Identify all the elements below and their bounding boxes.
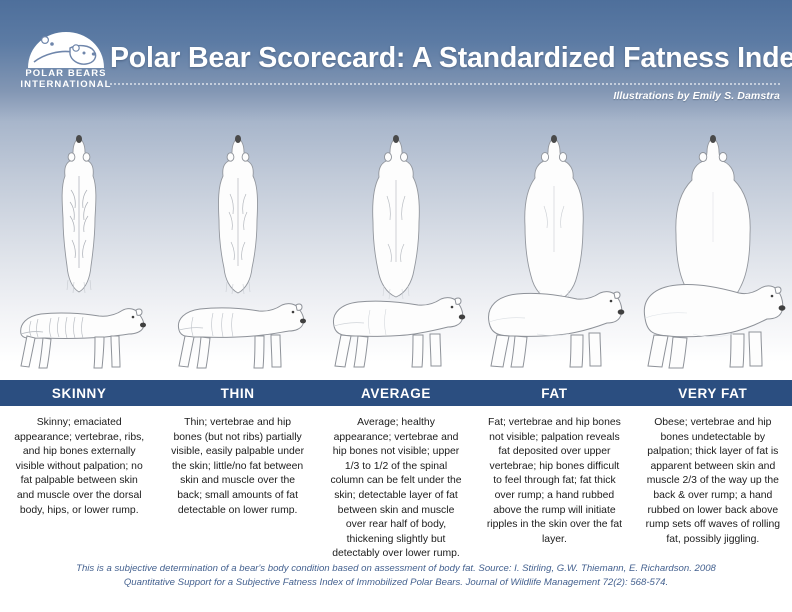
logo-line-2: INTERNATIONAL [20,79,111,90]
bear-column-skinny [0,122,158,380]
logo-line-1: POLAR BEARS [25,68,106,79]
description-thin: Thin; vertebrae and hip bones (but not r… [158,416,316,558]
side-view-average [320,284,472,374]
category-label-average: AVERAGE [317,380,475,406]
polar-bear-side-view-fat-icon [477,282,631,374]
logo-wordmark: POLAR BEARS INTERNATIONAL [14,68,118,90]
bear-column-thin [158,122,316,380]
description-fat: Fat; vertebrae and hip bones not visible… [475,416,633,558]
illustration-credit: Illustrations by Emily S. Damstra [613,90,780,102]
source-footer: This is a subjective determination of a … [0,558,792,590]
top-view-average [346,132,446,304]
header-banner: POLAR BEARS INTERNATIONAL Polar Bear Sco… [0,0,792,122]
top-view-fat [500,132,608,306]
category-descriptions: Skinny; emaciated appearance; vertebrae,… [0,406,792,558]
page-title: Polar Bear Scorecard: A Standardized Fat… [110,42,792,75]
description-skinny: Skinny; emaciated appearance; vertebrae,… [0,416,158,558]
polar-bear-side-view-average-icon [320,284,472,374]
side-view-fat [477,282,631,374]
side-view-thin [163,286,313,374]
category-label-thin: THIN [158,380,316,406]
category-label-very-fat: VERY FAT [634,380,792,406]
bear-illustration-stage [0,122,792,380]
bear-column-fat [475,122,633,380]
polar-bear-top-view-thin-icon [191,132,285,302]
description-average: Average; healthy appearance; vertebrae a… [317,416,475,558]
category-label-fat: FAT [475,380,633,406]
polar-bear-side-view-very-fat-icon [635,280,791,374]
polar-bears-international-logo[interactable]: POLAR BEARS INTERNATIONAL [14,24,118,96]
bear-column-average [317,122,475,380]
footer-line-2: Quantitative Support for a Subjective Fa… [0,576,792,590]
description-very-fat: Obese; vertebrae and hip bones undetecta… [634,416,792,558]
bear-column-very-fat [634,122,792,380]
top-view-thin [191,132,285,302]
polar-bear-top-view-fat-icon [500,132,608,306]
top-view-skinny [34,132,124,302]
polar-bear-side-view-skinny-icon [5,288,153,374]
side-view-skinny [5,288,153,374]
side-view-very-fat [635,280,791,374]
polar-bear-top-view-skinny-icon [34,132,124,302]
title-divider [110,83,780,87]
footer-line-1: This is a subjective determination of a … [0,562,792,576]
category-label-skinny: SKINNY [0,380,158,406]
category-label-bar: SKINNY THIN AVERAGE FAT VERY FAT [0,380,792,406]
polar-bear-side-view-thin-icon [163,286,313,374]
polar-bear-top-view-average-icon [346,132,446,304]
